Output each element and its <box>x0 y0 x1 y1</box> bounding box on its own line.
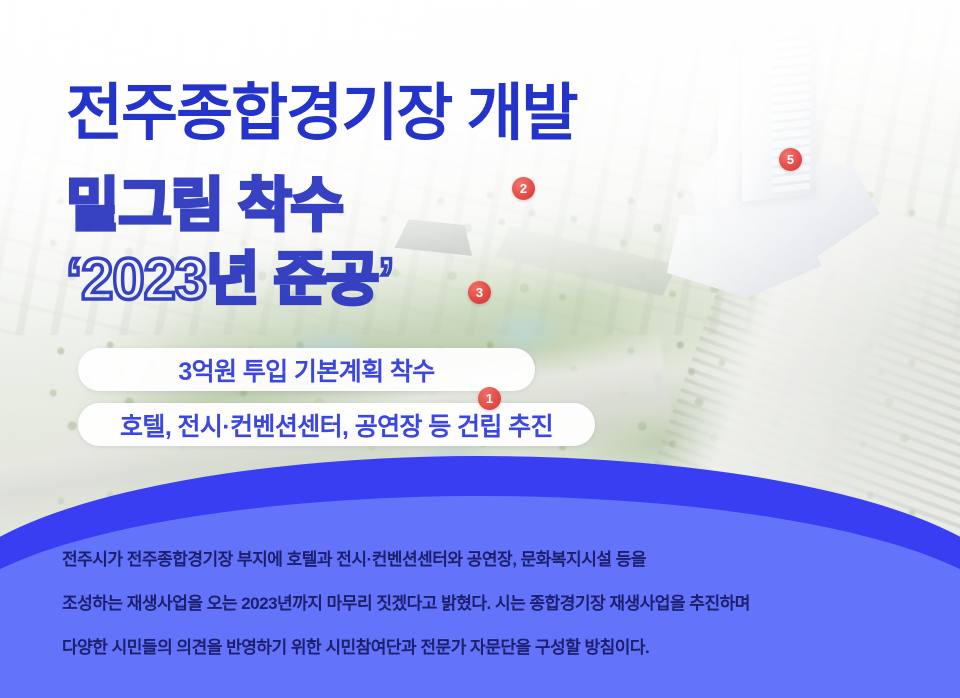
headline-sub-2: ‘2023년 준공’ <box>66 232 393 316</box>
map-marker-1: 1 <box>478 387 501 410</box>
badge-facility-list: 호텔, 전시·컨벤션센터, 공연장 등 건립 추진 <box>78 403 595 446</box>
map-marker-2: 2 <box>512 177 535 200</box>
map-marker-5: 5 <box>779 148 802 171</box>
map-marker-3: 3 <box>468 281 491 304</box>
body-copy-line-3: 다양한 시민들의 의견을 반영하기 위한 시민참여단과 전문가 자문단을 구성할… <box>62 633 912 658</box>
badge-budget-plan: 3억원 투입 기본계획 착수 <box>78 348 535 391</box>
headline-sub-1: 밑그림 착수 <box>66 158 343 242</box>
body-copy-line-1: 전주시가 전주종합경기장 부지에 호텔과 전시·컨벤션센터와 공연장, 문화복지… <box>62 545 912 570</box>
news-card: 5 2 3 전주종합경기장 개발 밑그림 착수 ‘2023년 준공’ 3억원 투… <box>0 0 960 698</box>
headline-main: 전주종합경기장 개발 <box>66 62 577 152</box>
body-copy-line-2: 조성하는 재생사업을 오는 2023년까지 마무리 짓겠다고 밝혔다. 시는 종… <box>62 589 912 614</box>
body-copy: 전주시가 전주종합경기장 부지에 호텔과 전시·컨벤션센터와 공연장, 문화복지… <box>62 545 912 658</box>
